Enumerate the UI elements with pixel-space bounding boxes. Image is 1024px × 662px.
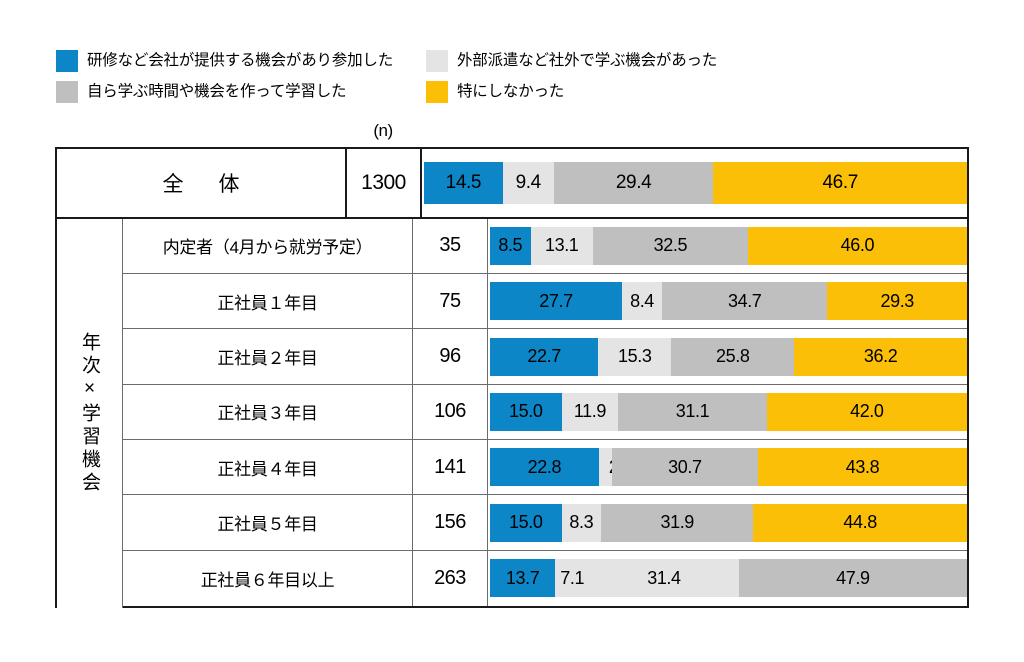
bar-segment: 22.7 <box>490 338 598 376</box>
row-bar-cell: 15.011.931.142.0 <box>488 385 967 439</box>
row-bar-cell: 27.78.434.729.3 <box>488 274 967 328</box>
bar-segment-value: 8.4 <box>630 291 654 312</box>
bar-segment: 47.9 <box>739 559 967 597</box>
bar-segment-value: 47.9 <box>836 568 869 589</box>
bar-segment: 34.7 <box>662 282 827 320</box>
legend-swatch-external <box>426 50 448 72</box>
table-row: 全 体130014.59.429.446.7 <box>57 149 967 219</box>
legend-label-self: 自ら学ぶ時間や機会を作って学習した <box>87 81 346 103</box>
stacked-bar: 15.08.331.944.8 <box>490 504 967 542</box>
row-category-label: 正社員２年目 <box>123 329 413 383</box>
legend-label-external: 外部派遣など社外で学ぶ機会があった <box>457 50 717 72</box>
stacked-bar: 8.513.132.546.0 <box>490 227 967 265</box>
row-category-label: 全 体 <box>57 149 347 217</box>
bar-segment-value: 9.4 <box>516 172 541 194</box>
bar-segment-value: 13.1 <box>545 235 578 256</box>
n-column-header: (n) <box>345 121 421 141</box>
bar-segment-value: 15.0 <box>509 512 542 533</box>
bar-segment-value: 22.7 <box>527 346 560 367</box>
bar-segment: 43.8 <box>758 448 967 486</box>
stacked-bar: 27.78.434.729.3 <box>490 282 967 320</box>
bar-segment: 13.1 <box>531 227 593 265</box>
bar-segment: 44.8 <box>753 504 967 542</box>
bar-segment: 8.4 <box>622 282 662 320</box>
bar-segment-value: 22.8 <box>528 457 561 478</box>
row-bar-cell: 22.82.730.743.8 <box>488 440 967 494</box>
bar-segment-value: 34.7 <box>728 291 761 312</box>
stacked-bar: 13.77.131.447.9 <box>490 559 967 597</box>
bar-segment: 7.1 <box>555 559 589 597</box>
bar-segment-value: 42.0 <box>850 401 883 422</box>
row-category-label: 正社員６年目以上 <box>123 551 413 606</box>
row-category-label: 正社員５年目 <box>123 495 413 549</box>
bar-segment-value: 13.7 <box>506 568 539 589</box>
row-category-label: 内定者（4月から就労予定） <box>123 219 413 273</box>
bar-segment-value: 31.4 <box>647 568 680 589</box>
row-n-value: 263 <box>413 551 488 606</box>
table-row: 正社員６年目以上26313.77.131.447.9 <box>57 551 967 606</box>
row-n-value: 156 <box>413 495 488 549</box>
bar-segment: 15.0 <box>490 504 562 542</box>
bar-segment: 31.4 <box>589 559 739 597</box>
bar-segment: 46.7 <box>713 162 967 204</box>
stacked-bar: 15.011.931.142.0 <box>490 393 967 431</box>
bar-segment: 11.9 <box>562 393 619 431</box>
bar-segment: 25.8 <box>671 338 794 376</box>
legend-label-company: 研修など会社が提供する機会があり参加した <box>87 50 393 72</box>
table-row: 正社員５年目15615.08.331.944.8 <box>57 495 967 550</box>
legend-item-none: 特にしなかった <box>426 79 756 105</box>
bar-segment-value: 46.7 <box>823 172 858 194</box>
bar-segment-value: 32.5 <box>654 235 687 256</box>
stacked-bar: 22.715.325.836.2 <box>490 338 967 376</box>
legend-label-none: 特にしなかった <box>457 81 564 103</box>
bar-segment-value: 15.3 <box>618 346 651 367</box>
bar-segment-value: 27.7 <box>539 291 572 312</box>
bar-segment: 15.3 <box>598 338 671 376</box>
row-n-value: 141 <box>413 440 488 494</box>
legend-item-company: 研修など会社が提供する機会があり参加した <box>56 48 426 74</box>
row-n-value: 75 <box>413 274 488 328</box>
row-category-label: 正社員４年目 <box>123 440 413 494</box>
bar-segment-value: 8.5 <box>498 235 522 256</box>
bar-segment: 15.0 <box>490 393 562 431</box>
bar-segment-value: 8.3 <box>569 512 593 533</box>
legend-row: 自ら学ぶ時間や機会を作って学習した 特にしなかった <box>56 79 756 110</box>
row-n-value: 96 <box>413 329 488 383</box>
legend-row: 研修など会社が提供する機会があり参加した 外部派遣など社外で学ぶ機会があった <box>56 48 756 79</box>
bar-segment: 29.3 <box>827 282 967 320</box>
bar-segment-value: 36.2 <box>864 346 897 367</box>
legend-item-external: 外部派遣など社外で学ぶ機会があった <box>426 48 756 74</box>
legend-swatch-self <box>56 81 78 103</box>
bar-segment: 31.9 <box>601 504 753 542</box>
row-bar-cell: 15.08.331.944.8 <box>488 495 967 549</box>
row-bar-cell: 13.77.131.447.9 <box>488 551 967 606</box>
bar-segment: 36.2 <box>794 338 967 376</box>
row-n-value: 35 <box>413 219 488 273</box>
row-category-label: 正社員３年目 <box>123 385 413 439</box>
table-row: 正社員１年目7527.78.434.729.3 <box>57 274 967 329</box>
bar-segment-value: 11.9 <box>574 401 606 422</box>
bar-segment-value: 15.0 <box>509 401 542 422</box>
bar-segment: 14.5 <box>424 162 503 204</box>
bar-segment-value: 14.5 <box>446 172 481 194</box>
bar-segment: 29.4 <box>554 162 714 204</box>
bar-segment: 8.3 <box>562 504 602 542</box>
chart-table: 年次×学習機会 全 体130014.59.429.446.7内定者（4月から就労… <box>55 147 969 608</box>
bar-segment-value: 29.4 <box>616 172 651 194</box>
bar-segment: 31.1 <box>618 393 766 431</box>
bar-segment-value: 7.1 <box>560 568 584 589</box>
row-bar-cell: 14.59.429.446.7 <box>422 149 967 217</box>
table-row: 内定者（4月から就労予定）358.513.132.546.0 <box>57 219 967 274</box>
bar-segment-value: 30.7 <box>668 457 701 478</box>
bar-segment: 13.7 <box>490 559 555 597</box>
legend-item-self: 自ら学ぶ時間や機会を作って学習した <box>56 79 426 105</box>
bar-segment-value: 31.1 <box>676 401 709 422</box>
row-category-label: 正社員１年目 <box>123 274 413 328</box>
legend-swatch-none <box>426 81 448 103</box>
bar-segment: 32.5 <box>593 227 748 265</box>
bar-segment-value: 31.9 <box>660 512 693 533</box>
stacked-bar: 14.59.429.446.7 <box>424 162 967 204</box>
legend-swatch-company <box>56 50 78 72</box>
bar-segment: 8.5 <box>490 227 531 265</box>
row-n-value: 106 <box>413 385 488 439</box>
stacked-bar: 22.82.730.743.8 <box>490 448 967 486</box>
bar-segment-value: 46.0 <box>841 235 874 256</box>
group-label-cell: 年次×学習機会 <box>57 219 123 608</box>
bar-segment: 46.0 <box>748 227 967 265</box>
row-bar-cell: 22.715.325.836.2 <box>488 329 967 383</box>
bar-segment: 27.7 <box>490 282 622 320</box>
table-row: 正社員４年目14122.82.730.743.8 <box>57 440 967 495</box>
bar-segment-value: 43.8 <box>846 457 879 478</box>
group-label-text: 年次×学習機会 <box>80 332 99 495</box>
bar-segment: 30.7 <box>612 448 758 486</box>
bar-segment-value: 25.8 <box>716 346 749 367</box>
table-row: 正社員３年目10615.011.931.142.0 <box>57 385 967 440</box>
bar-segment: 42.0 <box>767 393 967 431</box>
row-bar-cell: 8.513.132.546.0 <box>488 219 967 273</box>
row-n-value: 1300 <box>347 149 422 217</box>
table-row: 正社員２年目9622.715.325.836.2 <box>57 329 967 384</box>
legend: 研修など会社が提供する機会があり参加した 外部派遣など社外で学ぶ機会があった 自… <box>56 48 756 110</box>
bar-segment-value: 29.3 <box>880 291 913 312</box>
bar-segment: 22.8 <box>490 448 599 486</box>
bar-segment: 9.4 <box>503 162 554 204</box>
bar-segment-value: 44.8 <box>843 512 876 533</box>
bar-segment: 2.7 <box>599 448 612 486</box>
